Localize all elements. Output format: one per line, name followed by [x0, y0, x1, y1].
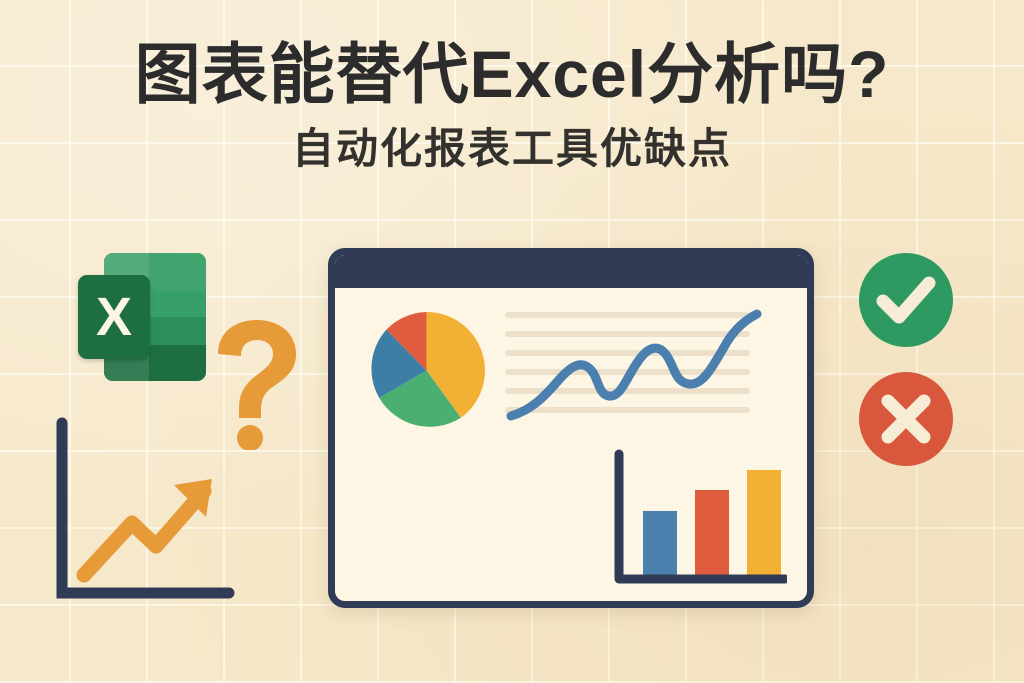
- line-chart[interactable]: [505, 306, 765, 424]
- close-icon[interactable]: [858, 371, 954, 467]
- bar-2: [747, 470, 781, 579]
- window-titlebar: [335, 255, 807, 288]
- bar-chart[interactable]: [607, 448, 787, 593]
- excel-icon: X: [78, 253, 206, 381]
- growth-trend-chart-icon: [52, 415, 267, 610]
- dashboard-canvas: [335, 288, 807, 601]
- excel-letter: X: [96, 290, 132, 344]
- page-subtitle: 自动化报表工具优缺点: [0, 126, 1024, 172]
- bar-1: [695, 490, 729, 579]
- line-chart-series: [511, 314, 757, 416]
- pie-chart[interactable]: [366, 310, 487, 431]
- bar-0: [643, 511, 677, 579]
- poster-canvas: 图表能替代Excel分析吗? 自动化报表工具优缺点 X: [0, 0, 1024, 683]
- excel-x-tile: X: [78, 275, 150, 359]
- growth-arrow: [84, 491, 204, 575]
- check-icon[interactable]: [858, 252, 954, 348]
- heading-group: 图表能替代Excel分析吗? 自动化报表工具优缺点: [0, 40, 1024, 172]
- dashboard-window[interactable]: [328, 248, 814, 608]
- page-title: 图表能替代Excel分析吗?: [0, 40, 1024, 110]
